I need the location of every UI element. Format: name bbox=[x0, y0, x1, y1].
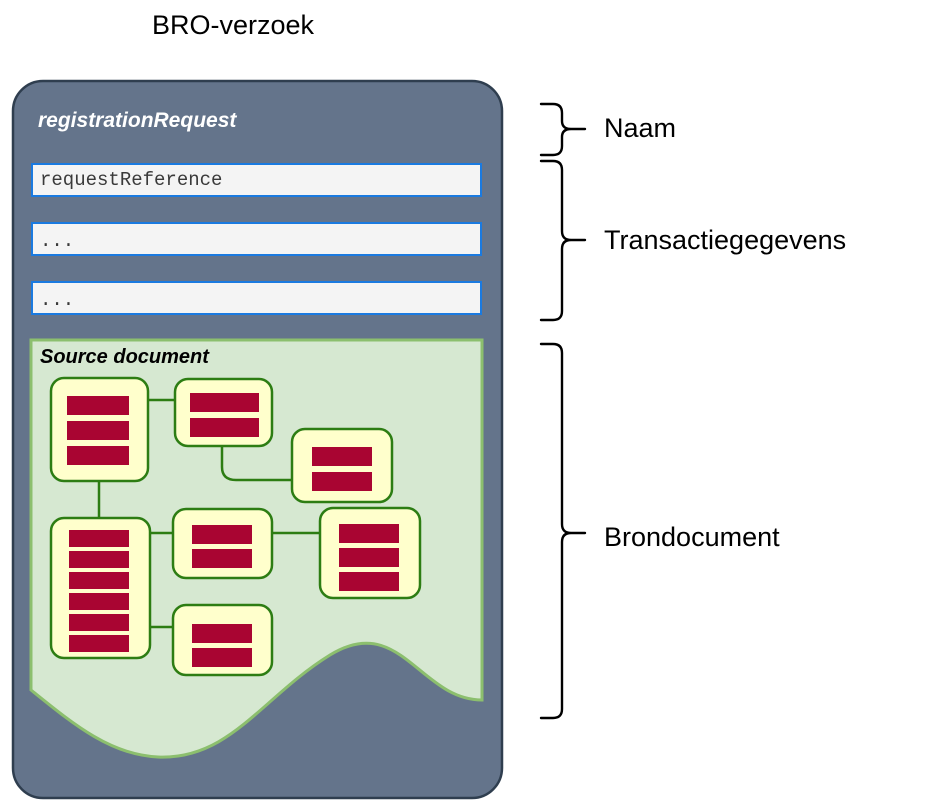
source-node-n3 bbox=[292, 429, 392, 502]
field-request-reference[interactable]: requestReference bbox=[31, 163, 482, 197]
node-row bbox=[69, 572, 129, 589]
source-document-label: Source document bbox=[40, 345, 209, 370]
node-row bbox=[69, 551, 129, 568]
node-row bbox=[339, 548, 399, 567]
brace-brondocument bbox=[541, 344, 585, 718]
bro-verzoek-diagram: BRO-verzoek registrationRequest requestR… bbox=[0, 0, 942, 802]
source-node-n4 bbox=[51, 518, 150, 658]
source-node-n2 bbox=[175, 379, 272, 446]
field-ellipsis-1[interactable]: ... bbox=[31, 222, 482, 256]
annotation-label-naam: Naam bbox=[604, 112, 676, 144]
node-row bbox=[192, 624, 252, 643]
page-title: BRO-verzoek bbox=[152, 8, 314, 42]
node-row bbox=[339, 572, 399, 591]
brace-transactiegegevens bbox=[541, 161, 585, 320]
node-row bbox=[69, 635, 129, 652]
node-row bbox=[69, 530, 129, 547]
annotation-label-brondocument: Brondocument bbox=[604, 521, 780, 553]
node-row bbox=[192, 549, 252, 568]
source-node-n7 bbox=[173, 605, 272, 675]
node-row bbox=[190, 393, 259, 412]
node-row bbox=[312, 447, 372, 466]
node-row bbox=[67, 421, 129, 440]
node-row bbox=[190, 418, 259, 437]
node-row bbox=[312, 472, 372, 491]
node-row bbox=[67, 396, 129, 415]
source-node-n5 bbox=[173, 509, 272, 578]
source-node-n1 bbox=[51, 378, 148, 481]
node-row bbox=[339, 524, 399, 543]
node-row bbox=[192, 648, 252, 667]
node-row bbox=[69, 593, 129, 610]
field-ellipsis-2[interactable]: ... bbox=[31, 281, 482, 315]
source-node-n6 bbox=[320, 508, 420, 598]
annotation-label-transactiegegevens: Transactiegegevens bbox=[604, 224, 846, 256]
node-row bbox=[192, 525, 252, 544]
node-row bbox=[69, 614, 129, 631]
node-row bbox=[67, 446, 129, 465]
registration-request-name: registrationRequest bbox=[38, 108, 236, 134]
brace-naam bbox=[541, 104, 585, 155]
